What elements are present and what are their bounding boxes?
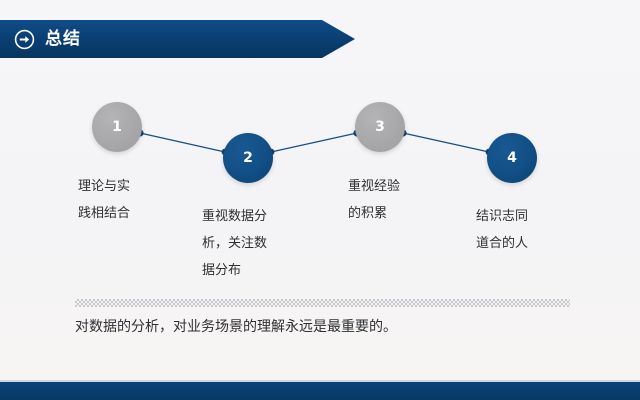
- timeline-node-2[interactable]: 2: [223, 133, 273, 183]
- label-line: 据分布: [202, 257, 267, 284]
- node-number: 2: [243, 150, 253, 166]
- timeline-node-3-label: 重视经验 的积累: [348, 173, 400, 227]
- label-line: 析，关注数: [202, 230, 267, 257]
- header-banner: 总结: [0, 20, 355, 58]
- circle-arrow-right-icon: [14, 29, 35, 50]
- label-line: 践相结合: [78, 200, 130, 227]
- label-line: 重视数据分: [202, 203, 267, 230]
- timeline-node-3[interactable]: 3: [355, 102, 405, 152]
- label-line: 道合的人: [476, 230, 528, 257]
- summary-caption: 对数据的分析，对业务场景的理解永远是最重要的。: [75, 316, 595, 338]
- node-number: 4: [507, 150, 517, 166]
- timeline-node-1[interactable]: 1: [92, 102, 142, 152]
- label-line: 理论与实: [78, 173, 130, 200]
- node-number: 1: [112, 119, 122, 135]
- slide-canvas: 总结 1 理论与实 践相结合 2 重视数据分 析，关: [0, 0, 640, 400]
- footer-bar: [0, 382, 640, 400]
- label-line: 重视经验: [348, 173, 400, 200]
- node-number: 3: [375, 119, 385, 135]
- label-line: 的积累: [348, 200, 400, 227]
- timeline-diagram: 1 理论与实 践相结合 2 重视数据分 析，关注数 据分布 3 重视经验 的积累…: [0, 70, 640, 290]
- timeline-node-4[interactable]: 4: [487, 133, 537, 183]
- hatched-divider: [75, 299, 570, 307]
- timeline-node-2-label: 重视数据分 析，关注数 据分布: [202, 203, 267, 284]
- timeline-node-4-label: 结识志同 道合的人: [476, 203, 528, 257]
- timeline-node-1-label: 理论与实 践相结合: [78, 173, 130, 227]
- label-line: 结识志同: [476, 203, 528, 230]
- page-title: 总结: [45, 31, 81, 48]
